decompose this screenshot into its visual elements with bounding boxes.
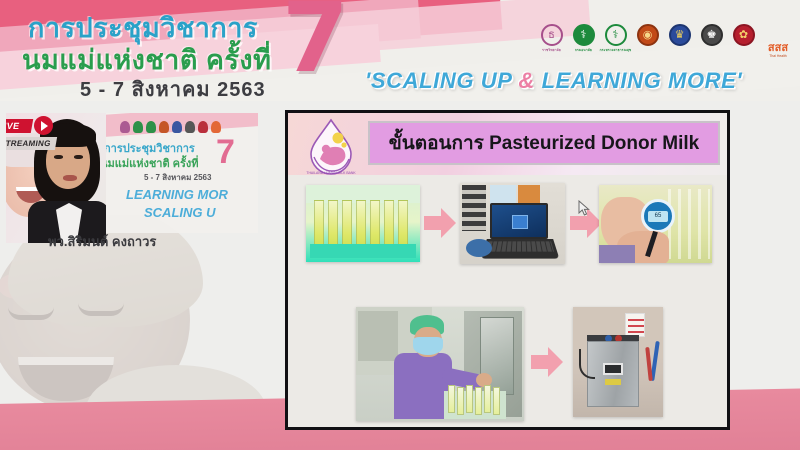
logo-caption: กระทรวงสาธารณสุข	[600, 48, 632, 53]
royal-college-icon: ♛	[669, 24, 691, 46]
slide-stage: 7 การประชุมวิชาการ นมแม่แห่งชาติ ครั้งที…	[0, 0, 800, 450]
speaker-video-feed[interactable]: LIVE STREAMING	[6, 113, 106, 243]
royal-college-logo: ♛	[666, 24, 693, 58]
sss-label: สสส	[768, 43, 788, 54]
logo-caption: ราชวิทยาลัย	[542, 48, 561, 53]
logo-caption: กรมอนามัย	[575, 48, 592, 53]
human-milk-bank-logo: THAILAND HUMAN MILK BANK	[300, 117, 362, 179]
svg-text:THAILAND HUMAN MILK BANK: THAILAND HUMAN MILK BANK	[306, 171, 356, 175]
mouse-cursor	[578, 200, 590, 222]
thermometer-device: 65	[641, 199, 675, 233]
slogan-part-open: 'SCALING UP	[365, 68, 518, 93]
red-crest-icon: ✿	[733, 24, 755, 46]
edition-number: 7	[282, 0, 349, 86]
poster-logo-row	[120, 121, 221, 133]
poster-date: 5 - 7 สิงหาคม 2563	[144, 171, 211, 184]
conference-banner: 7 การประชุมวิชาการ นมแม่แห่งชาติ ครั้งที…	[0, 0, 800, 101]
health-dept-icon: ⚕	[605, 24, 627, 46]
photo-temperature-meter-check: 65	[599, 185, 712, 263]
royal-patronage-icon: ธ	[541, 24, 563, 46]
poster-edition-number: 7	[216, 135, 235, 169]
sss-caption: Thai Health	[769, 54, 786, 58]
moph-green-logo: ⚕ กรมอนามัย	[570, 24, 597, 58]
pediatric-society-icon: ◉	[637, 24, 659, 46]
poster-slogan-line2: SCALING U	[144, 205, 216, 220]
broadcast-slide-poster: การประชุมวิชาการ นมแม่แห่งชาติ ครั้งที่ …	[98, 113, 258, 233]
live-label: LIVE	[6, 119, 33, 133]
organization-logo-strip: ธ ราชวิทยาลัย ⚕ กรมอนามัย ⚕ กระทรวงสาธาร…	[538, 24, 794, 58]
live-streaming-badge: LIVE STREAMING	[6, 115, 62, 157]
streaming-label: STREAMING	[6, 137, 57, 150]
speaker-name-caption: พว.สิริมนต์ คงถาวร	[48, 231, 156, 252]
conference-date: 5 - 7 สิงหาคม 2563	[80, 73, 266, 101]
live-play-icon	[34, 116, 53, 135]
thai-breastfeeding-icon: ♚	[701, 24, 723, 46]
moph-green-icon: ⚕	[573, 24, 595, 46]
health-dept-logo: ⚕ กระทรวงสาธารณสุข	[602, 24, 629, 58]
thai-breastfeeding-logo: ♚	[698, 24, 725, 58]
content-panel: THAILAND HUMAN MILK BANK ขั้นตอนการ Past…	[285, 110, 730, 430]
photo-pasteurizer-machine	[573, 307, 663, 417]
red-crest-logo: ✿	[730, 24, 757, 58]
meter-reading: 65	[648, 211, 668, 222]
poster-title-line2: นมแม่แห่งชาติ ครั้งที่	[100, 154, 199, 172]
thaihealth-sss-logo: สสส Thai Health	[762, 43, 794, 58]
photo-milk-bottles-storage	[306, 185, 420, 262]
photo-laptop-record-station	[460, 183, 565, 264]
pediatric-society-logo: ◉	[634, 24, 661, 58]
poster-slogan-line1: LEARNING MOR	[126, 187, 228, 202]
panel-title: ขั้นตอนการ Pasteurized Donor Milk	[368, 121, 720, 165]
conference-slogan: 'SCALING UP & LEARNING MORE'	[365, 68, 742, 94]
slogan-part-close: LEARNING MORE'	[535, 68, 742, 93]
photo-nurse-loading-bottles	[356, 307, 524, 421]
slogan-ampersand: &	[518, 68, 535, 93]
royal-patronage-logo: ธ ราชวิทยาลัย	[538, 24, 565, 58]
